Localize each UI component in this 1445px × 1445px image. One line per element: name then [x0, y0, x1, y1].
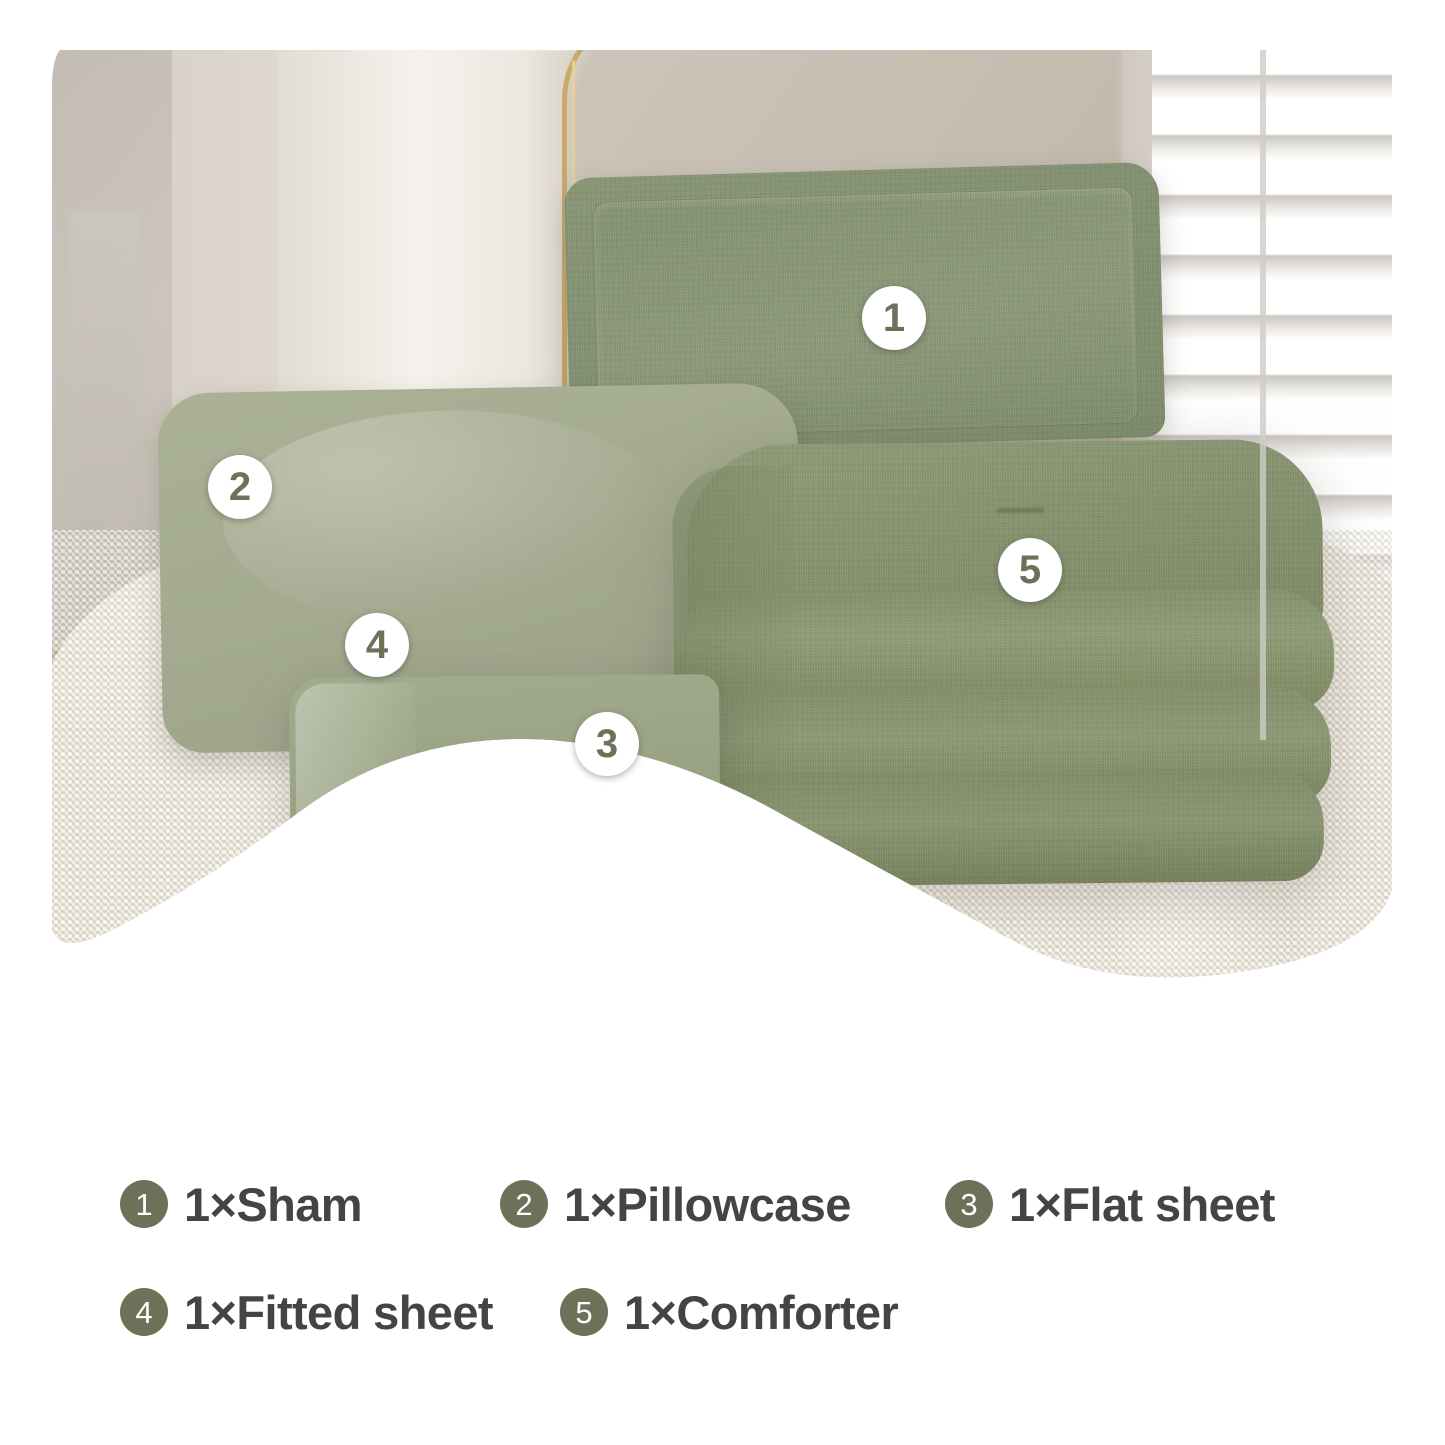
legend: 1 1×Sham 2 1×Pillowcase 3 1×Flat sheet 4… — [0, 1150, 1445, 1366]
callout-badge-1[interactable]: 1 — [862, 286, 926, 350]
legend-item-sham[interactable]: 1 1×Sham — [120, 1177, 500, 1232]
comforter-tuft-seam — [996, 508, 1044, 514]
callout-badge-3[interactable]: 3 — [575, 712, 639, 776]
sheet-seam-line — [294, 837, 714, 844]
legend-label-sham: 1×Sham — [184, 1177, 362, 1232]
fitted-sheet-highlight — [295, 683, 416, 834]
legend-row-2: 4 1×Fitted sheet 5 1×Comforter — [120, 1258, 1325, 1366]
legend-label-pillowcase: 1×Pillowcase — [564, 1177, 851, 1232]
legend-item-pillowcase[interactable]: 2 1×Pillowcase — [500, 1177, 945, 1232]
pillowcase-sheen — [221, 406, 673, 630]
legend-item-comforter[interactable]: 5 1×Comforter — [560, 1285, 960, 1340]
callout-badge-5[interactable]: 5 — [998, 538, 1062, 602]
legend-item-fitted-sheet[interactable]: 4 1×Fitted sheet — [120, 1285, 560, 1340]
folded-sheet-stack — [289, 674, 721, 910]
comforter-left-shadow — [672, 466, 796, 847]
photo-clip-wave — [52, 50, 1392, 1080]
legend-badge-5-icon: 5 — [560, 1288, 608, 1336]
folded-comforter — [672, 439, 1337, 894]
product-photo: 1 2 3 4 5 — [0, 0, 1445, 1100]
legend-label-flat-sheet: 1×Flat sheet — [1009, 1177, 1275, 1232]
fitted-sheet-fold — [289, 674, 720, 850]
callout-badge-2[interactable]: 2 — [208, 455, 272, 519]
legend-row-1: 1 1×Sham 2 1×Pillowcase 3 1×Flat sheet — [120, 1150, 1325, 1258]
legend-badge-3-icon: 3 — [945, 1180, 993, 1228]
legend-badge-1-icon: 1 — [120, 1180, 168, 1228]
legend-badge-4-icon: 4 — [120, 1288, 168, 1336]
legend-label-fitted-sheet: 1×Fitted sheet — [184, 1285, 493, 1340]
legend-badge-2-icon: 2 — [500, 1180, 548, 1228]
flat-sheet-fold — [294, 840, 715, 906]
legend-item-flat-sheet[interactable]: 3 1×Flat sheet — [945, 1177, 1325, 1232]
blind-cord — [1260, 50, 1266, 740]
callout-badge-4[interactable]: 4 — [345, 613, 409, 677]
legend-label-comforter: 1×Comforter — [624, 1285, 898, 1340]
